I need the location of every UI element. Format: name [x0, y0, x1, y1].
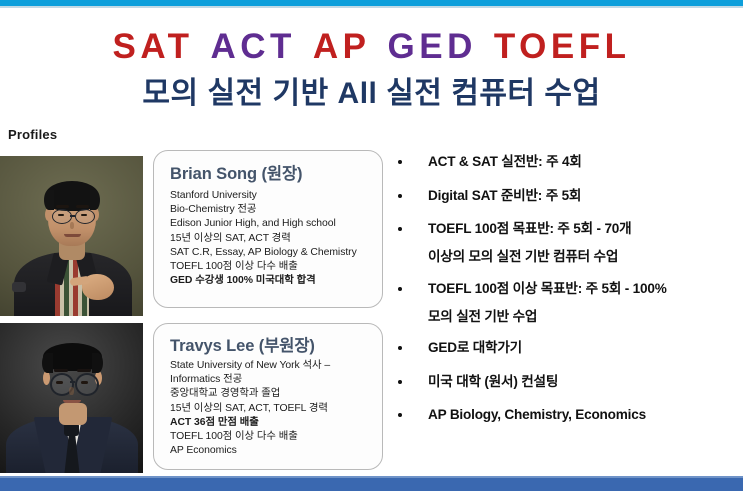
headline-word-act: ACT	[210, 27, 295, 66]
profile-detail-line: Informatics 전공	[170, 373, 374, 387]
program-list-item: Digital SAT 준비반: 주 5회	[396, 186, 743, 207]
bullet-icon	[398, 227, 402, 231]
program-list-item-label: AP Biology, Chemistry, Economics	[428, 405, 743, 424]
bullet-icon	[398, 194, 402, 198]
profile-detail-line-highlight: GED 수강생 100% 미국대학 합격	[170, 274, 374, 288]
program-list-item-label: ACT & SAT 실전반: 주 4회	[428, 152, 743, 171]
program-list-item: TOEFL 100점 이상 목표반: 주 5회 - 100% 모의 실전 기반 …	[396, 279, 743, 326]
program-list-item-label: 미국 대학 (원서) 컨설팅	[428, 372, 743, 391]
program-list-item: AP Biology, Chemistry, Economics	[396, 405, 743, 426]
profile-detail-line-highlight: ACT 36점 만점 배출	[170, 416, 374, 430]
profile-detail-line: TOEFL 100점 이상 다수 배출	[170, 260, 374, 274]
promotional-slide: SATACTAPGEDTOEFL 모의 실전 기반 All 실전 컴퓨터 수업 …	[0, 0, 743, 491]
bullet-icon	[398, 380, 402, 384]
profile-photo-travys-lee	[0, 323, 143, 473]
headline-word-ap: AP	[313, 27, 371, 66]
headline-word-toefl: TOEFL	[494, 27, 631, 66]
profile-detail-line: Edison Junior High, and High school	[170, 217, 374, 231]
headline-word-sat: SAT	[113, 27, 194, 66]
program-list-item-label: TOEFL 100점 목표반: 주 5회 - 70개	[428, 219, 743, 238]
profile-name: Travys Lee (부원장)	[170, 332, 315, 356]
profile-detail-line: State University of New York 석사 –	[170, 359, 374, 373]
program-list-item-continuation: 모의 실전 기반 수업	[428, 307, 743, 326]
program-list-item-label: Digital SAT 준비반: 주 5회	[428, 186, 743, 205]
profile-detail-line: 15년 이상의 SAT, ACT, TOEFL 경력	[170, 402, 374, 416]
profile-details: Stanford University Bio-Chemistry 전공 Edi…	[170, 189, 374, 288]
program-list-item-label: TOEFL 100점 이상 목표반: 주 5회 - 100%	[428, 279, 743, 298]
profile-detail-line: TOEFL 100점 이상 다수 배출	[170, 430, 374, 444]
profile-details: State University of New York 석사 – Inform…	[170, 359, 374, 458]
profile-photo-brian-song	[0, 156, 143, 316]
headline: SATACTAPGEDTOEFL	[0, 27, 743, 67]
program-list-item-continuation: 이상의 모의 실전 기반 컴퓨터 수업	[428, 247, 743, 266]
profiles-section-label: Profiles	[8, 127, 57, 142]
profile-detail-line: 중앙대학교 경영학과 졸업	[170, 387, 374, 401]
bullet-icon	[398, 413, 402, 417]
program-list: ACT & SAT 실전반: 주 4회 Digital SAT 준비반: 주 5…	[396, 152, 743, 439]
program-list-item: GED로 대학가기	[396, 338, 743, 359]
subheadline: 모의 실전 기반 All 실전 컴퓨터 수업	[0, 76, 743, 112]
program-list-item: ACT & SAT 실전반: 주 4회	[396, 152, 743, 173]
top-accent-bar-shadow	[0, 6, 743, 8]
profile-detail-line: 15년 이상의 SAT, ACT 경력	[170, 232, 374, 246]
profile-detail-line: Stanford University	[170, 189, 374, 203]
profile-name: Brian Song (원장)	[170, 160, 302, 184]
profile-card-travys-lee: Travys Lee (부원장) State University of New…	[153, 323, 383, 470]
profile-card-brian-song: Brian Song (원장) Stanford University Bio-…	[153, 150, 383, 308]
program-list-item: 미국 대학 (원서) 컨설팅	[396, 372, 743, 393]
bullet-icon	[398, 160, 402, 164]
profile-detail-line: SAT C.R, Essay, AP Biology & Chemistry	[170, 246, 374, 260]
profile-detail-line: Bio-Chemistry 전공	[170, 203, 374, 217]
bullet-icon	[398, 346, 402, 350]
bottom-accent-bar	[0, 478, 743, 491]
profile-detail-line: AP Economics	[170, 444, 374, 458]
program-list-item-label: GED로 대학가기	[428, 338, 743, 357]
headline-word-ged: GED	[388, 27, 477, 66]
bullet-icon	[398, 287, 402, 291]
program-list-item: TOEFL 100점 목표반: 주 5회 - 70개 이상의 모의 실전 기반 …	[396, 219, 743, 266]
